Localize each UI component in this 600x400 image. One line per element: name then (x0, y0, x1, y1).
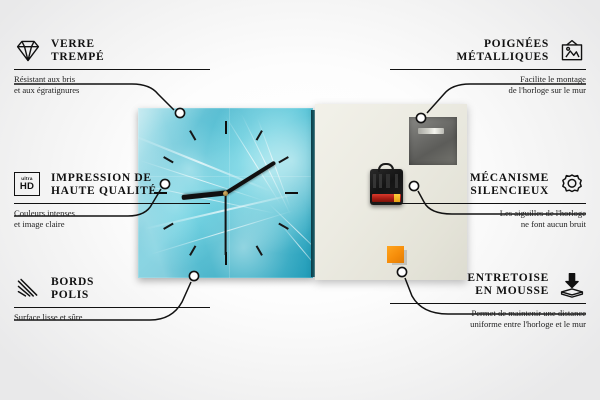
clock-tick (285, 192, 298, 194)
feature-heading: POIGNÉES MÉTALLIQUES (390, 38, 586, 65)
clock-tick (278, 156, 289, 163)
ultra-hd-icon: ultra HD (14, 172, 42, 198)
feature-subtitle: Surface lisse et sûre (14, 312, 210, 323)
feature-title: MÉCANISME SILENCIEUX (470, 172, 549, 199)
feature-title: VERRE TREMPÉ (51, 38, 104, 65)
clock-tick (225, 121, 227, 134)
feature-subtitle: Résistant aux bris et aux égratignures (14, 74, 210, 95)
clock-tick (189, 245, 196, 256)
clock-tick (189, 130, 196, 141)
metal-hanger-plate (409, 117, 457, 165)
feature-impression-haute-qualite: ultra HD IMPRESSION DE HAUTE QUALITÉ Cou… (14, 172, 210, 230)
clock-tick (255, 245, 262, 256)
clock-second-hand (225, 193, 227, 255)
feature-heading: VERRE TREMPÉ (14, 38, 210, 65)
feature-rule (390, 203, 586, 205)
feature-title: BORDS POLIS (51, 276, 94, 303)
feature-subtitle: Les aiguilles de l'horloge ne font aucun… (390, 208, 586, 229)
diamond-icon (14, 38, 42, 64)
feature-title: ENTRETOISE EN MOUSSE (467, 272, 549, 299)
feature-heading: ENTRETOISE EN MOUSSE (390, 272, 586, 299)
infographic-canvas: VERRE TREMPÉ Résistant aux bris et aux é… (0, 0, 600, 400)
foam-spacer-pad (387, 246, 404, 263)
hanger-slot (418, 128, 444, 134)
ultra-hd-main-label: HD (20, 182, 34, 192)
clock-tick (163, 156, 174, 163)
feature-title: POIGNÉES MÉTALLIQUES (457, 38, 549, 65)
feature-heading: ultra HD IMPRESSION DE HAUTE QUALITÉ (14, 172, 210, 199)
hanging-loop-icon (378, 163, 394, 172)
clock-tick (278, 223, 289, 230)
wall-hanger-icon (558, 38, 586, 64)
feature-mecanisme-silencieux: MÉCANISME SILENCIEUX Les aiguilles de l'… (390, 172, 586, 230)
clock-minute-hand (224, 161, 275, 195)
feature-rule (14, 307, 210, 309)
feature-title: IMPRESSION DE HAUTE QUALITÉ (51, 172, 157, 199)
foam-spacer-icon (558, 272, 586, 298)
polished-edge-icon (14, 276, 42, 302)
feature-rule (390, 303, 586, 305)
gear-icon (558, 172, 586, 198)
feature-subtitle: Couleurs intenses et image claire (14, 208, 210, 229)
feature-rule (14, 203, 210, 205)
feature-subtitle: Facilite le montage de l'horloge sur le … (390, 74, 586, 95)
feature-verre-trempe: VERRE TREMPÉ Résistant aux bris et aux é… (14, 38, 210, 96)
feature-bords-polis: BORDS POLIS Surface lisse et sûre (14, 276, 210, 323)
feature-heading: MÉCANISME SILENCIEUX (390, 172, 586, 199)
feature-heading: BORDS POLIS (14, 276, 210, 303)
feature-rule (14, 69, 210, 71)
feature-subtitle: Permet de maintenir une distance uniform… (390, 308, 586, 329)
feature-rule (390, 69, 586, 71)
feature-poignees-metalliques: POIGNÉES MÉTALLIQUES Facilite le montage… (390, 38, 586, 96)
clock-center-hub (223, 191, 228, 196)
feature-entretoise-en-mousse: ENTRETOISE EN MOUSSE Permet de maintenir… (390, 272, 586, 330)
clock-tick (255, 130, 262, 141)
